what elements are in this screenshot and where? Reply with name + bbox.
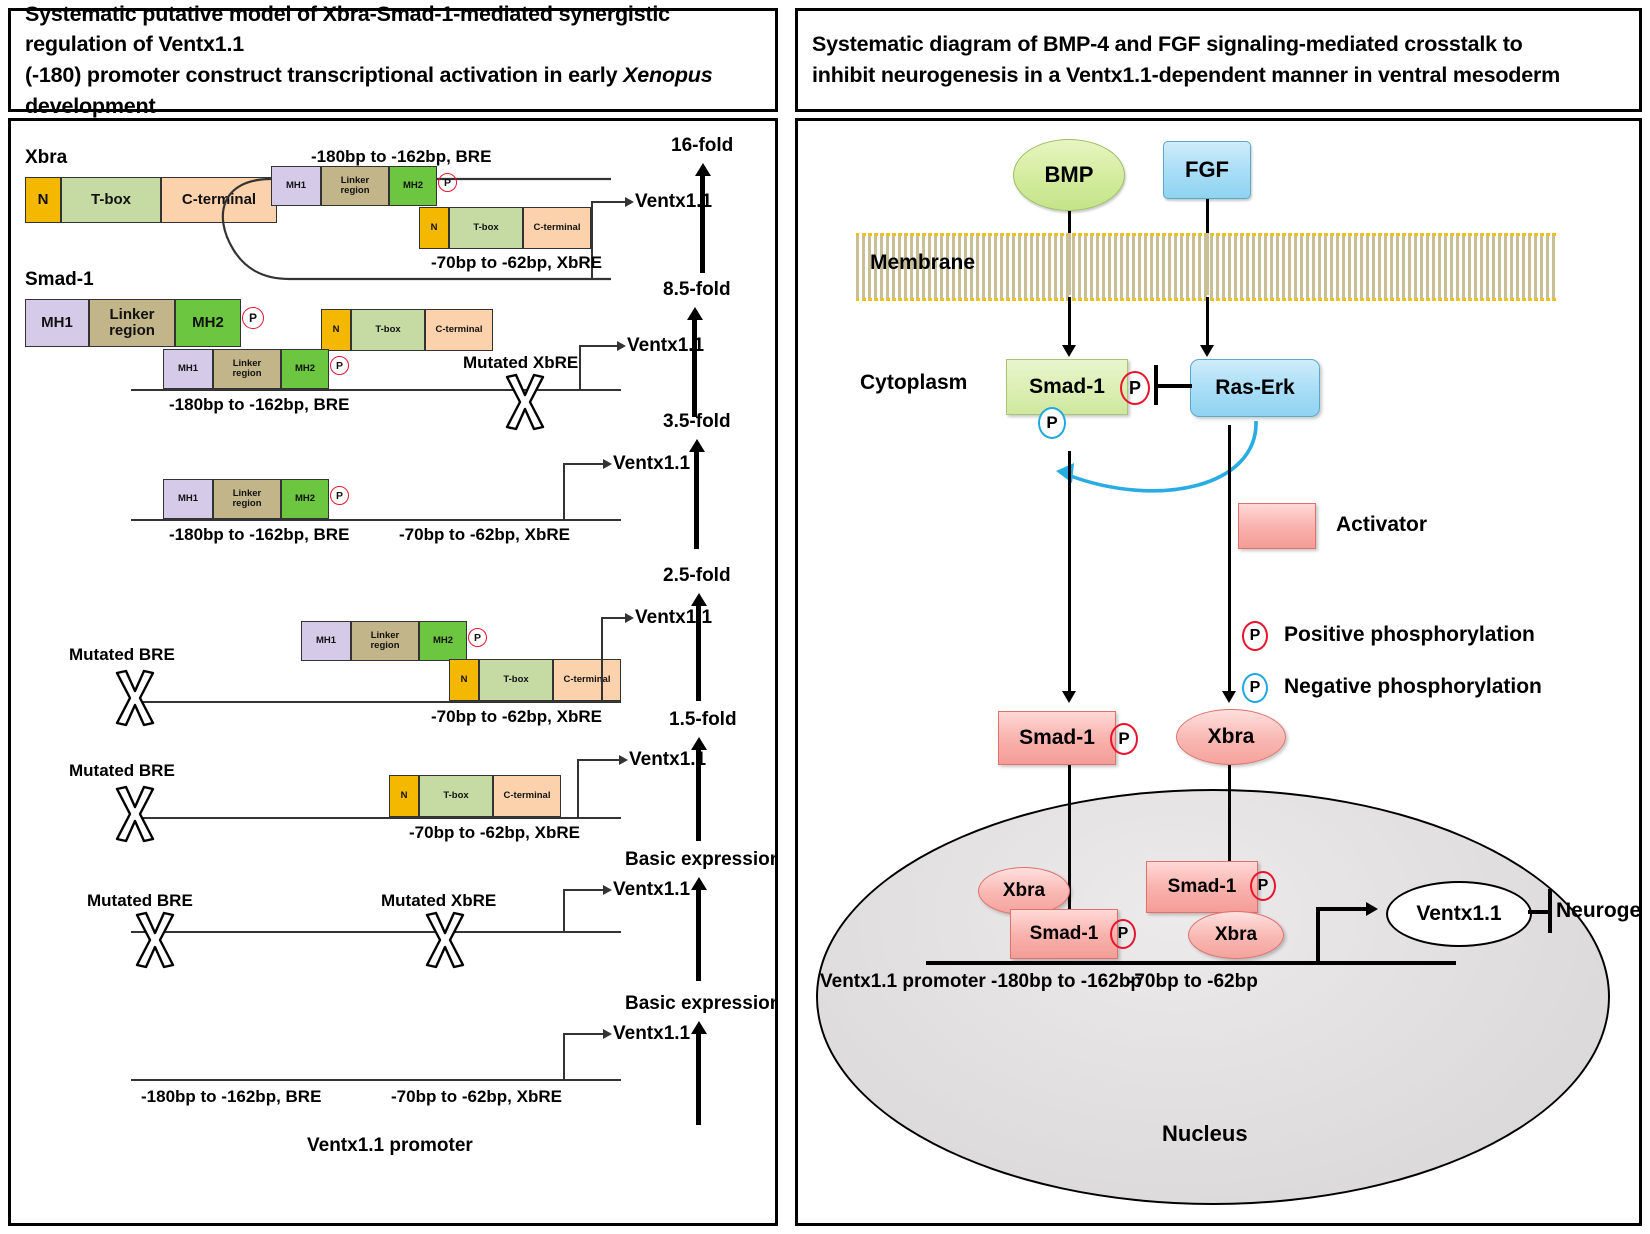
raserk-inhibit-connector	[1156, 384, 1192, 388]
row5-xbra-n: N	[389, 775, 419, 817]
row4-tss-riser	[601, 617, 603, 703]
left-title-line2a: (-180) promoter construct transcriptiona…	[25, 63, 623, 87]
row3-xbre-label: -70bp to -62bp, XbRE	[399, 525, 570, 545]
bmp-node[interactable]: BMP	[1013, 139, 1125, 211]
row4-xbra-n: N	[449, 659, 479, 701]
legend-positive-phospho-label: Positive phosphorylation	[1284, 623, 1535, 647]
smad1-active-phospho-icon: P	[1110, 723, 1138, 755]
neurogenesis-inhibit-tick	[1548, 889, 1552, 933]
row5-xbra-cterminal: C-terminal	[493, 775, 561, 817]
ventx11-node[interactable]: Ventx1.1	[1386, 881, 1532, 947]
row7-gene-label: Ventx1.1	[613, 1023, 690, 1045]
left-title-italic: Xenopus	[623, 63, 712, 87]
row6-mutated-bre-label: Mutated BRE	[87, 891, 193, 911]
row5-tss-riser	[577, 759, 579, 819]
row2-tss-arrowhead	[617, 341, 626, 351]
row1-smad-phospho-icon: P	[438, 173, 457, 192]
right-title-line1: Systematic diagram of BMP-4 and FGF sign…	[812, 32, 1523, 56]
row2-smad-mh2: MH2	[281, 349, 329, 389]
row2-dna-line	[131, 389, 621, 391]
row2-tss-horizontal	[579, 345, 619, 347]
smad1-dna-complex2-phospho-icon: P	[1250, 871, 1276, 901]
smad1-dna-complex1-phospho-icon: P	[1110, 919, 1136, 949]
legend-negative-phospho-label: Negative phosphorylation	[1284, 675, 1542, 699]
fold-label-basic-2: Basic expression	[625, 993, 778, 1015]
figure-root: Systematic putative model of Xbra-Smad-1…	[0, 0, 1650, 1234]
row4-xbra-tbox: T-box	[479, 659, 553, 701]
left-panel-body: Xbra N T-box C-terminal Smad-1 MH1 Linke…	[8, 118, 778, 1226]
row2-xbra-n: N	[321, 309, 351, 351]
raserk-negative-phospho-curve	[1038, 417, 1268, 513]
legend-smad1-domain-linker: Linker region	[89, 299, 175, 347]
row1-xbra-cterminal: C-terminal	[523, 207, 591, 249]
row2-smad-phospho-icon: P	[330, 356, 349, 375]
legend-smad1-domain-mh2: MH2	[175, 299, 241, 347]
smad1-transport-arrowhead	[1062, 691, 1076, 703]
fold-label-85: 8.5-fold	[663, 279, 731, 301]
row3-smad-linker: Linker region	[213, 479, 281, 519]
legend-smad1-domain-mh1: MH1	[25, 299, 89, 347]
row5-dna-line	[131, 817, 621, 819]
fold-arrow-15	[696, 749, 701, 841]
xbra-transport-arrow	[1228, 425, 1231, 693]
row3-smad-mh2: MH2	[281, 479, 329, 519]
legend-smad1-label: Smad-1	[25, 269, 94, 291]
bmp-membrane-channel	[1068, 233, 1071, 295]
row6-tss-riser	[563, 889, 565, 933]
row7-tss-horizontal	[563, 1033, 605, 1035]
neurogenesis-label: Neurogenesis	[1556, 899, 1642, 923]
row7-bre-label: -180bp to -162bp, BRE	[141, 1087, 321, 1107]
bmp-receptor-stem	[1068, 211, 1071, 233]
row3-dna-line	[131, 519, 621, 521]
ras-erk-node[interactable]: Ras-Erk	[1190, 359, 1320, 417]
fold-label-25: 2.5-fold	[663, 565, 731, 587]
row2-mutated-xbre-x-icon	[503, 373, 547, 431]
row6-tss-arrowhead	[603, 885, 612, 895]
row6-mutated-xbre-label: Mutated XbRE	[381, 891, 496, 911]
smad1-dna-complex2-node[interactable]: Smad-1	[1146, 861, 1258, 913]
row4-mutated-bre-label: Mutated BRE	[69, 645, 175, 665]
row4-dna-line	[131, 701, 621, 703]
row5-gene-label: Ventx1.1	[629, 749, 706, 771]
membrane-label: Membrane	[870, 251, 975, 275]
row3-tss-horizontal	[563, 463, 605, 465]
nucleus-tss-riser	[1316, 907, 1320, 963]
bmp-to-smad-arrow	[1068, 297, 1071, 347]
cytoplasm-label: Cytoplasm	[860, 371, 967, 395]
bmp-to-smad-arrowhead	[1062, 345, 1076, 357]
linker-line2: region	[109, 323, 155, 339]
fold-arrow-85	[692, 319, 697, 417]
nucleus-tss-horizontal	[1316, 907, 1368, 911]
row4-smad-mh1: MH1	[301, 621, 351, 661]
row6-mutated-xbre-x-icon	[423, 911, 467, 969]
row1-smad-linker: Linker region	[321, 166, 389, 206]
row2-tss-riser	[579, 345, 581, 391]
row5-xbra-tbox: T-box	[419, 775, 493, 817]
row1-xbra-n: N	[419, 207, 449, 249]
nucleus-label: Nucleus	[1162, 1121, 1248, 1147]
neurogenesis-inhibit-connector	[1528, 910, 1550, 914]
row4-smad-linker: Linker region	[351, 621, 419, 661]
fgf-receptor-stem	[1206, 199, 1209, 233]
left-title-line2b: development	[25, 94, 155, 118]
fold-arrow-16	[700, 175, 705, 273]
row1-smad-mh2: MH2	[389, 166, 437, 206]
fold-arrow-25	[696, 605, 701, 701]
row3-tss-riser	[563, 463, 565, 521]
fold-arrow-35	[694, 451, 699, 549]
row5-tss-arrowhead	[619, 755, 628, 765]
row4-tss-horizontal	[601, 617, 627, 619]
right-panel-body: BMP FGF Membrane Cytoplasm Smad-1 P P	[795, 118, 1642, 1226]
legend-activator-label: Activator	[1336, 513, 1427, 537]
promoter-caption: Ventx1.1 promoter	[307, 1135, 473, 1157]
row4-xbre-label: -70bp to -62bp, XbRE	[431, 707, 602, 727]
smad1-active-node[interactable]: Smad-1	[998, 711, 1116, 765]
smad1-positive-phospho-icon: P	[1120, 371, 1150, 405]
row6-gene-label: Ventx1.1	[613, 879, 690, 901]
row7-tss-arrowhead	[603, 1029, 612, 1039]
row7-dna-line	[131, 1079, 621, 1081]
row6-mutated-bre-x-icon	[133, 911, 177, 969]
row5-tss-horizontal	[577, 759, 621, 761]
left-panel: Systematic putative model of Xbra-Smad-1…	[8, 8, 778, 1226]
row1-bre-label: -180bp to -162bp, BRE	[311, 147, 491, 167]
left-panel-title: Systematic putative model of Xbra-Smad-1…	[8, 8, 778, 112]
row1-tss-arrowhead	[625, 197, 634, 207]
row1-smad-mh1: MH1	[271, 166, 321, 206]
fold-label-basic-1: Basic expression	[625, 849, 778, 871]
left-title-line1: Systematic putative model of Xbra-Smad-1…	[25, 2, 670, 57]
row1-xbre-label: -70bp to -62bp, XbRE	[431, 253, 602, 273]
row4-smad-mh2: MH2	[419, 621, 467, 661]
xbra-transport-arrowhead	[1222, 691, 1236, 703]
legend-smad1-phospho-icon: P	[242, 307, 264, 329]
promoter-left-label: Ventx1.1 promoter -180bp to -162bp	[820, 971, 1142, 993]
row5-mutated-bre-x-icon	[113, 785, 157, 843]
row2-smad-mh1: MH1	[163, 349, 213, 389]
legend-activator-swatch	[1238, 503, 1316, 549]
fold-arrow-basic-2	[696, 1033, 701, 1125]
xbra-active-node[interactable]: Xbra	[1176, 709, 1286, 765]
legend-negative-phospho-icon: P	[1242, 673, 1268, 703]
row5-xbre-label: -70bp to -62bp, XbRE	[409, 823, 580, 843]
row6-tss-horizontal	[563, 889, 605, 891]
xbra-dna-complex2-node[interactable]: Xbra	[1188, 911, 1284, 959]
row2-smad-linker: Linker region	[213, 349, 281, 389]
row3-gene-label: Ventx1.1	[613, 453, 690, 475]
linker-line1: Linker	[109, 307, 154, 323]
row1-xbra-tbox: T-box	[449, 207, 523, 249]
fold-label-16: 16-fold	[671, 135, 733, 157]
right-panel: Systematic diagram of BMP-4 and FGF sign…	[795, 8, 1642, 1226]
fold-arrow-basic-1	[696, 889, 701, 981]
row7-tss-riser	[563, 1033, 565, 1081]
row3-smad-mh1: MH1	[163, 479, 213, 519]
right-title-line2: inhibit neurogenesis in a Ventx1.1-depen…	[812, 63, 1560, 87]
right-panel-title: Systematic diagram of BMP-4 and FGF sign…	[795, 8, 1642, 112]
fgf-to-raserk-arrow	[1206, 297, 1209, 347]
row3-tss-arrowhead	[603, 459, 612, 469]
row3-smad-phospho-icon: P	[330, 486, 349, 505]
legend-positive-phospho-icon: P	[1242, 621, 1268, 651]
row5-mutated-bre-label: Mutated BRE	[69, 761, 175, 781]
row4-mutated-bre-x-icon	[113, 669, 157, 727]
row4-xbra-cterminal: C-terminal	[553, 659, 621, 701]
row1-tss-horizontal	[591, 201, 627, 203]
row4-tss-arrowhead	[625, 613, 634, 623]
fgf-to-raserk-arrowhead	[1200, 345, 1214, 357]
row6-dna-line	[131, 931, 621, 933]
promoter-right-label: -70bp to -62bp	[1128, 971, 1258, 993]
row2-xbra-cterminal: C-terminal	[425, 309, 493, 351]
fgf-membrane-channel	[1206, 233, 1209, 295]
fold-label-15: 1.5-fold	[669, 709, 737, 731]
nucleus-dna-line	[926, 961, 1456, 965]
nucleus-tss-arrowhead	[1366, 902, 1378, 916]
fold-label-35: 3.5-fold	[663, 411, 731, 433]
row4-smad-phospho-icon: P	[468, 628, 487, 647]
legend-xbra-domain-tbox: T-box	[61, 177, 161, 223]
smad1-transport-arrow	[1068, 451, 1071, 693]
smad1-cytoplasm-node[interactable]: Smad-1	[1006, 359, 1128, 415]
smad1-dna-complex1-node[interactable]: Smad-1	[1010, 909, 1118, 959]
row2-xbra-tbox: T-box	[351, 309, 425, 351]
fgf-node[interactable]: FGF	[1163, 141, 1251, 199]
row3-bre-label: -180bp to -162bp, BRE	[169, 525, 349, 545]
raserk-inhibit-tick	[1154, 365, 1158, 405]
row2-bre-label: -180bp to -162bp, BRE	[169, 395, 349, 415]
legend-xbra-label: Xbra	[25, 147, 67, 169]
xbra-dna-complex1-node[interactable]: Xbra	[978, 867, 1070, 915]
legend-xbra-domain-n: N	[25, 177, 61, 223]
row2-mutated-xbre-label: Mutated XbRE	[463, 353, 578, 373]
row7-xbre-label: -70bp to -62bp, XbRE	[391, 1087, 562, 1107]
